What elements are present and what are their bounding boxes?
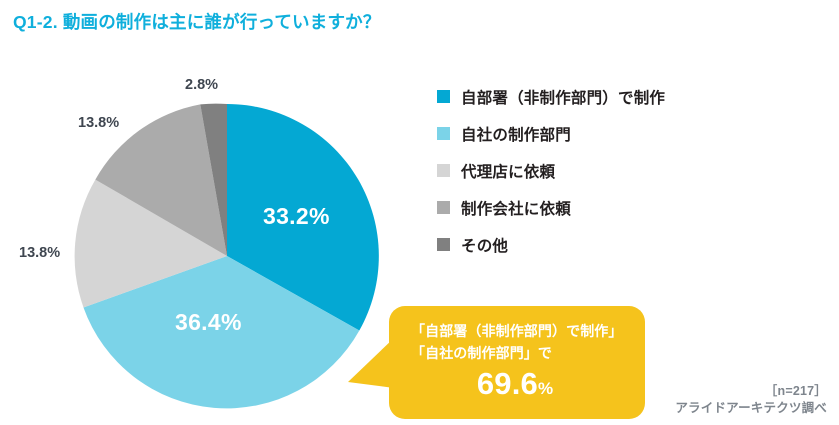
pie-label-production-co: 13.8%	[78, 115, 119, 131]
legend-swatch-other-icon	[437, 238, 450, 251]
pie-label-agency: 13.8%	[19, 245, 60, 261]
legend-item-other[interactable]: その他	[437, 226, 777, 263]
legend-label-other: その他	[461, 234, 508, 256]
callout-tail-pointer	[348, 332, 394, 392]
pie-label-in-house: 36.4%	[175, 309, 242, 336]
legend-item-production-co[interactable]: 制作会社に依頼	[437, 189, 777, 226]
footnote-source: アライドアーキテクツ調べ	[675, 400, 827, 417]
legend-item-in-house[interactable]: 自社の制作部門	[437, 115, 777, 152]
legend-label-production-co: 制作会社に依頼	[461, 197, 571, 219]
callout-text: 「自部署（非制作部門）で制作」 「自社の制作部門」で 69.6%	[389, 306, 645, 419]
pie-label-own-dept: 33.2%	[263, 203, 330, 230]
legend: 自部署（非制作部門）で制作 自社の制作部門 代理店に依頼 制作会社に依頼 その他	[437, 78, 777, 263]
footnote: ［n=217］ アライドアーキテクツ調べ	[675, 383, 827, 417]
page-title: Q1-2. 動画の制作は主に誰が行っていますか？	[13, 9, 381, 34]
callout-line-1: 「自部署（非制作部門）で制作」	[411, 320, 631, 342]
callout-line-2: 「自社の制作部門」で	[411, 342, 631, 364]
legend-swatch-in-house-icon	[437, 127, 450, 140]
legend-item-agency[interactable]: 代理店に依頼	[437, 152, 777, 189]
legend-label-in-house: 自社の制作部門	[461, 123, 571, 145]
legend-swatch-production-co-icon	[437, 201, 450, 214]
legend-swatch-agency-icon	[437, 164, 450, 177]
legend-item-own-dept[interactable]: 自部署（非制作部門）で制作	[437, 78, 777, 115]
pie-label-other: 2.8%	[185, 77, 218, 93]
legend-swatch-own-dept-icon	[437, 90, 450, 103]
legend-label-agency: 代理店に依頼	[461, 160, 555, 182]
callout-bubble: 「自部署（非制作部門）で制作」 「自社の制作部門」で 69.6%	[389, 306, 645, 419]
callout-value: 69.6	[477, 366, 538, 401]
callout-unit: %	[538, 379, 553, 398]
footnote-sample-size: ［n=217］	[675, 383, 827, 400]
callout-figure: 69.6%	[411, 366, 631, 402]
legend-label-own-dept: 自部署（非制作部門）で制作	[461, 86, 665, 108]
